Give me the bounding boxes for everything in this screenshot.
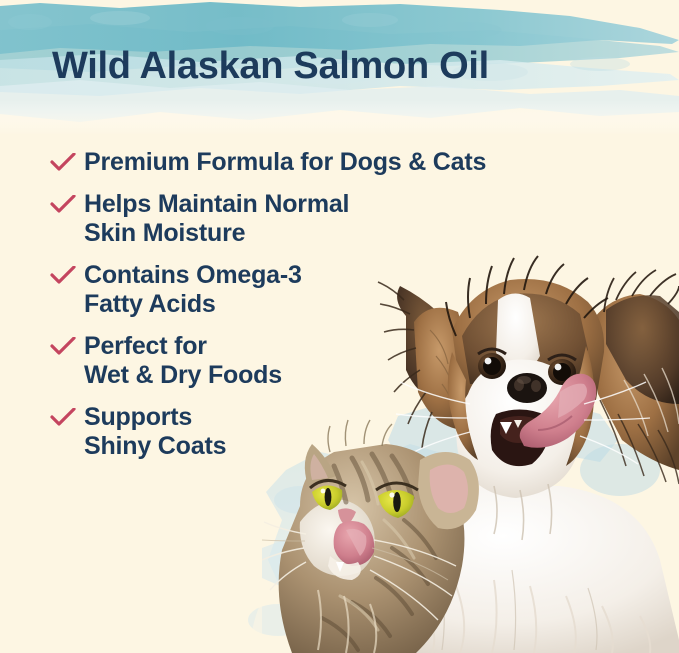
check-icon: [50, 403, 84, 428]
list-item-label: Supports Shiny Coats: [84, 403, 226, 461]
list-item: Premium Formula for Dogs & Cats: [50, 148, 570, 177]
list-item-label: Perfect for Wet & Dry Foods: [84, 332, 282, 390]
check-icon: [50, 261, 84, 286]
check-icon: [50, 190, 84, 215]
list-item: Perfect for Wet & Dry Foods: [50, 332, 570, 390]
cat-tongue: [334, 521, 375, 566]
page-title: Wild Alaskan Salmon Oil: [52, 45, 489, 88]
list-item-label: Contains Omega-3 Fatty Acids: [84, 261, 302, 319]
cat-eye-right: [376, 483, 418, 518]
check-icon: [50, 332, 84, 357]
cat-eye-left: [310, 480, 346, 510]
list-item: Helps Maintain Normal Skin Moisture: [50, 190, 570, 248]
list-item-label: Premium Formula for Dogs & Cats: [84, 148, 486, 177]
list-item: Supports Shiny Coats: [50, 403, 570, 461]
product-feature-graphic: Wild Alaskan Salmon Oil Premium Formula …: [0, 0, 679, 653]
list-item: Contains Omega-3 Fatty Acids: [50, 261, 570, 319]
list-item-label: Helps Maintain Normal Skin Moisture: [84, 190, 349, 248]
feature-list: Premium Formula for Dogs & Cats Helps Ma…: [50, 148, 570, 474]
check-icon: [50, 148, 84, 173]
cat-nose: [338, 508, 356, 526]
